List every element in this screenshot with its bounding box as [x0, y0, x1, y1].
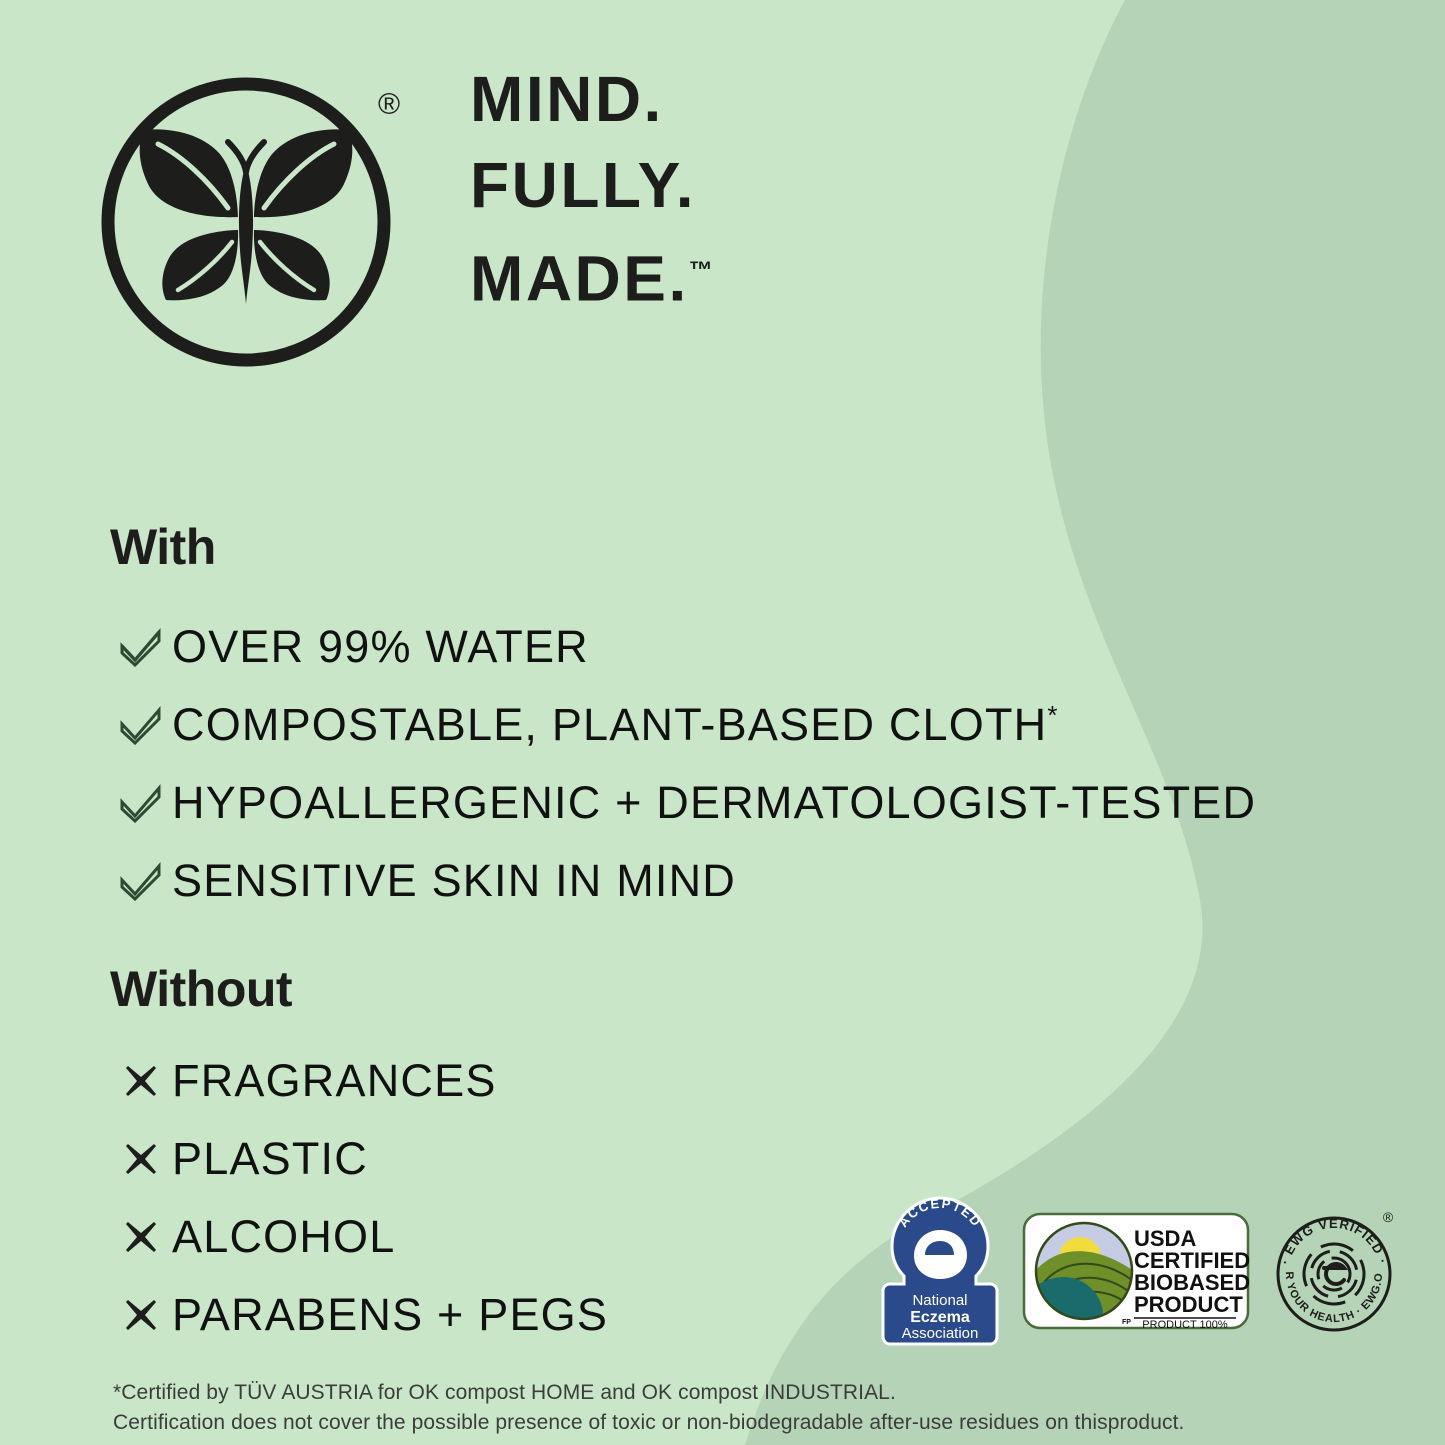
registered-trademark-symbol: ® — [378, 90, 400, 120]
without-section-title: Without — [110, 960, 292, 1018]
list-item: HYPOALLERGENIC + DERMATOLOGIST-TESTED — [110, 764, 1256, 842]
footnote-line-1: *Certified by TÜV AUSTRIA for OK compost… — [113, 1378, 1363, 1408]
x-icon — [110, 1218, 172, 1256]
trademark-symbol: ™ — [689, 257, 713, 284]
list-item: PLASTIC — [110, 1120, 608, 1198]
x-icon — [110, 1140, 172, 1178]
x-icon — [110, 1296, 172, 1334]
list-item: COMPOSTABLE, PLANT-BASED CLOTH* — [110, 686, 1256, 764]
with-claims-list: OVER 99% WATER COMPOSTABLE, PLANT-BASED … — [110, 608, 1256, 920]
nea-line-3: Association — [902, 1325, 979, 1342]
ewg-verified-badge: · EWG VERIFIED · FOR YOUR HEALTH · EWG.O… — [1272, 1206, 1400, 1336]
list-item-label: SENSITIVE SKIN IN MIND — [172, 855, 736, 907]
brand-lockup: ® MIND. FULLY. MADE.™ — [96, 72, 816, 402]
list-item-label: COMPOSTABLE, PLANT-BASED CLOTH* — [172, 699, 1059, 751]
list-item-label: PLASTIC — [172, 1133, 368, 1185]
list-item-label: FRAGRANCES — [172, 1055, 497, 1107]
usda-certified-biobased-product-badge: USDA CERTIFIED BIOBASED PRODUCT PRODUCT … — [1022, 1212, 1250, 1330]
list-item-label: PARABENS + PEGS — [172, 1289, 608, 1341]
list-item-label: OVER 99% WATER — [172, 621, 589, 673]
certification-badges: ACCEPTED National Eczema Association — [880, 1196, 1400, 1346]
list-item-label: HYPOALLERGENIC + DERMATOLOGIST-TESTED — [172, 777, 1256, 829]
usda-line-4: PRODUCT — [1134, 1292, 1243, 1317]
product-claims-panel: ® MIND. FULLY. MADE.™ With OVER 99% WATE… — [0, 0, 1445, 1445]
with-section-title: With — [110, 518, 216, 576]
tagline-line-2: FULLY. — [470, 142, 890, 228]
usda-corner-mark: FP — [1122, 1319, 1131, 1326]
ewg-registered-symbol: ® — [1383, 1209, 1394, 1225]
sun-hills-landscape-emblem — [1036, 1223, 1132, 1319]
national-eczema-association-badge: ACCEPTED National Eczema Association — [880, 1196, 1000, 1346]
butterfly-logo-icon — [96, 72, 396, 372]
usda-sub-text: PRODUCT 100% — [1142, 1319, 1228, 1330]
tagline-line-3: MADE.™ — [470, 228, 890, 321]
tagline-line-3-text: MADE. — [470, 242, 689, 314]
nea-line-1: National — [912, 1292, 967, 1309]
without-claims-list: FRAGRANCES PLASTIC ALCOHOL — [110, 1042, 608, 1354]
nea-line-2: Eczema — [910, 1309, 970, 1326]
concentric-e-emblem — [1296, 1236, 1373, 1313]
list-item: SENSITIVE SKIN IN MIND — [110, 842, 1256, 920]
list-item: OVER 99% WATER — [110, 608, 1256, 686]
tagline-line-1: MIND. — [470, 56, 890, 142]
check-icon — [110, 861, 172, 901]
list-item: ALCOHOL — [110, 1198, 608, 1276]
footnote-block: *Certified by TÜV AUSTRIA for OK compost… — [113, 1378, 1363, 1438]
footnote-marker: * — [1047, 700, 1058, 730]
check-icon — [110, 705, 172, 745]
brand-tagline: MIND. FULLY. MADE.™ — [470, 56, 890, 321]
check-icon — [110, 783, 172, 823]
check-icon — [110, 627, 172, 667]
list-item: PARABENS + PEGS — [110, 1276, 608, 1354]
footnote-line-2: Certification does not cover the possibl… — [113, 1408, 1363, 1438]
list-item: FRAGRANCES — [110, 1042, 608, 1120]
list-item-label: ALCOHOL — [172, 1211, 395, 1263]
x-icon — [110, 1062, 172, 1100]
